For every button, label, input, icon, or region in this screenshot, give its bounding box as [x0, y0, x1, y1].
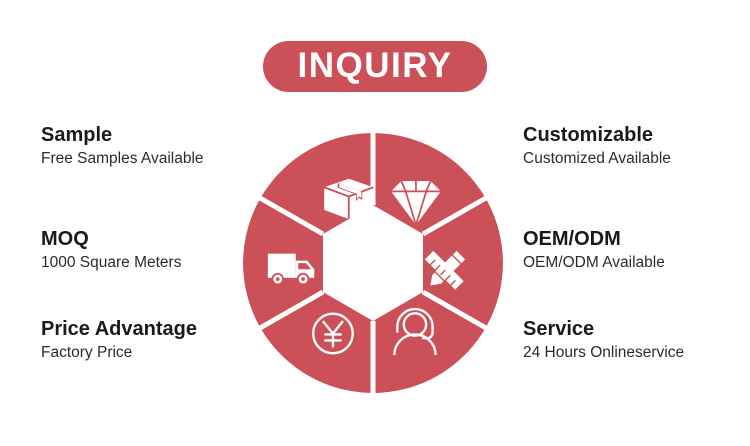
feature-title: Service — [523, 318, 750, 341]
inquiry-banner: INQUIRY — [0, 41, 750, 92]
feature-title: OEM/ODM — [523, 228, 750, 251]
feature-subtitle: Factory Price — [41, 344, 276, 363]
feature-wheel — [243, 133, 503, 393]
inquiry-banner-pill: INQUIRY — [263, 41, 486, 92]
feature-moq: MOQ 1000 Square Meters — [41, 228, 276, 273]
feature-title: Price Advantage — [41, 318, 276, 341]
feature-service: Service 24 Hours Onlineservice — [523, 318, 750, 363]
feature-subtitle: 24 Hours Onlineservice — [523, 344, 750, 363]
feature-title: Customizable — [523, 124, 750, 147]
feature-price-advantage: Price Advantage Factory Price — [41, 318, 276, 363]
feature-title: Sample — [41, 124, 276, 147]
feature-subtitle: 1000 Square Meters — [41, 254, 276, 273]
feature-subtitle: Customized Available — [523, 150, 750, 169]
feature-subtitle: OEM/ODM Available — [523, 254, 750, 273]
feature-customizable: Customizable Customized Available — [523, 124, 750, 169]
feature-subtitle: Free Samples Available — [41, 150, 276, 169]
inquiry-banner-label: INQUIRY — [297, 48, 452, 83]
feature-title: MOQ — [41, 228, 276, 251]
feature-oem-odm: OEM/ODM OEM/ODM Available — [523, 228, 750, 273]
feature-sample: Sample Free Samples Available — [41, 124, 276, 169]
